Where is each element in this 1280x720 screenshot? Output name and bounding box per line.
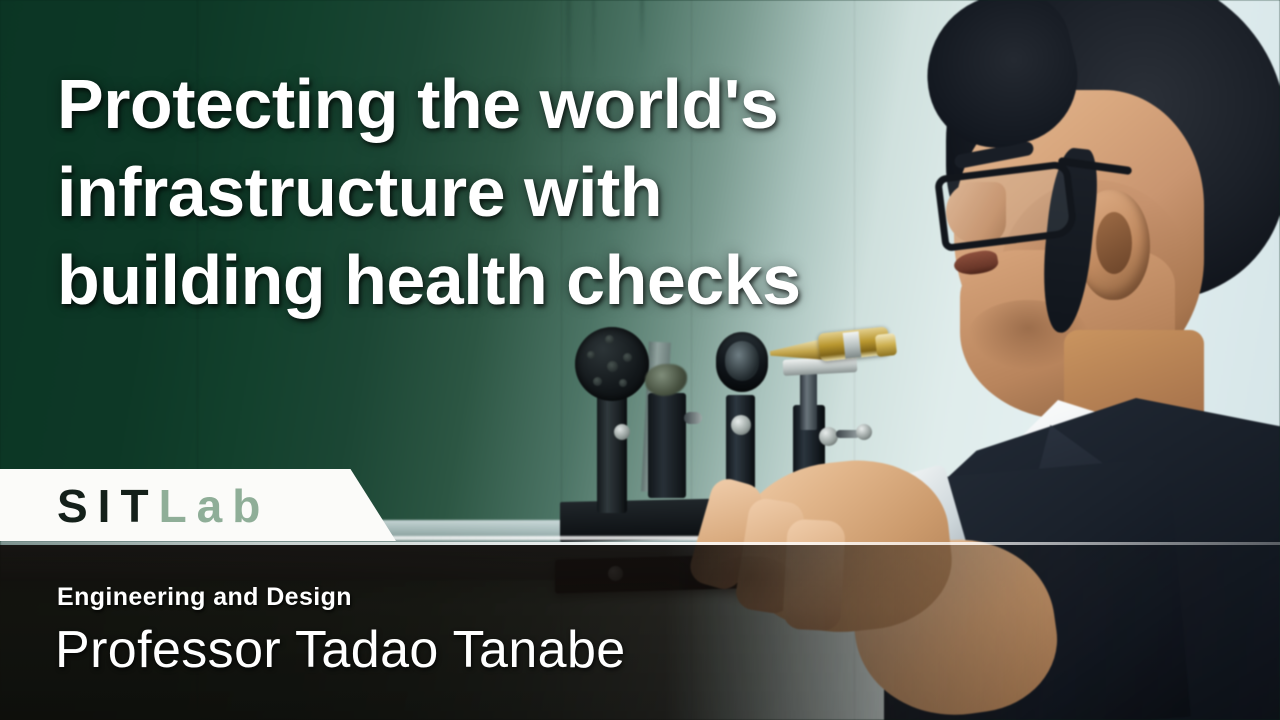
sitlab-logo-secondary: Lab [159, 480, 271, 532]
rear-mount-knob [684, 412, 702, 424]
perforated-disc-optic [575, 327, 649, 401]
video-thumbnail: Protecting the world's infrastructure wi… [0, 0, 1280, 720]
wall-streak [640, 0, 644, 52]
lens-ring-mount [716, 332, 768, 392]
lower-third-hairline [0, 542, 1280, 545]
rear-post-mount [648, 393, 686, 498]
gold-post-collar [819, 427, 838, 446]
ear-inner [1096, 212, 1132, 274]
lens-post-collar [731, 415, 751, 435]
sitlab-logo: SITLab [57, 481, 270, 531]
department-label: Engineering and Design [57, 583, 352, 612]
post-height-slider [800, 372, 817, 430]
post-mount-stem [597, 395, 627, 513]
sitlab-logo-primary: SIT [57, 480, 159, 532]
post-adjust-collar [614, 424, 630, 440]
presenter-name: Professor Tadao Tanabe [55, 620, 626, 680]
video-title: Protecting the world's infrastructure wi… [57, 60, 987, 324]
